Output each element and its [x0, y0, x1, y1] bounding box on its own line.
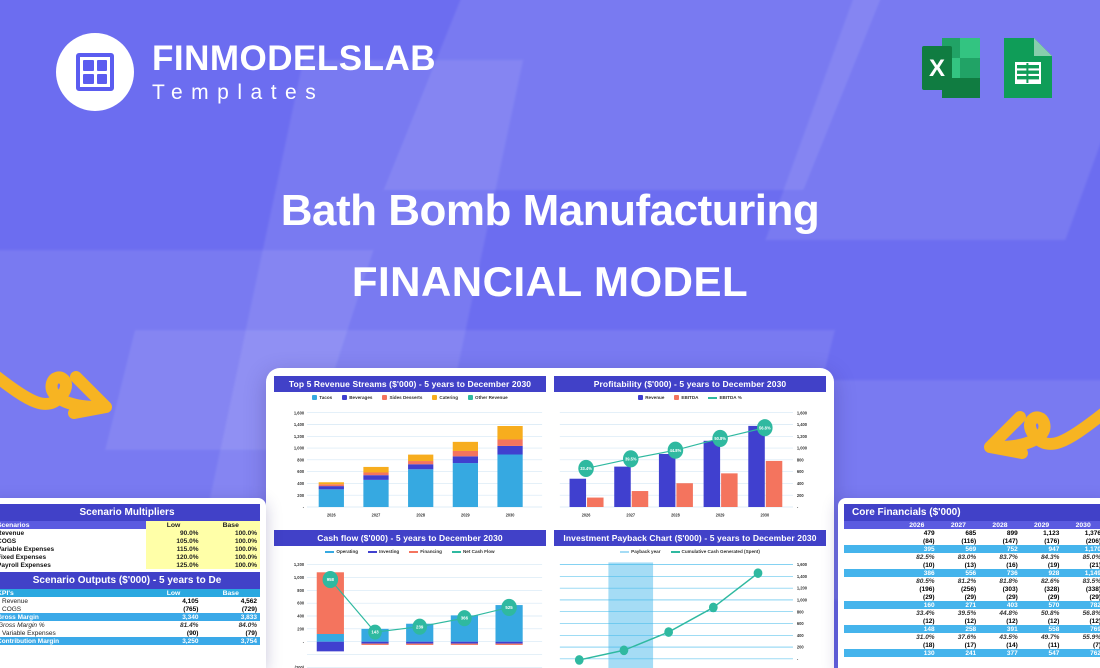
svg-text:1,000: 1,000	[797, 445, 808, 450]
scenario-tables-card[interactable]: Scenario Multipliers Scenarios Low Base …	[0, 498, 266, 668]
svg-text:143: 143	[371, 629, 379, 634]
legend-item-tacos[interactable]: Tacos	[312, 395, 332, 400]
col-kpis: KPI's	[0, 589, 146, 597]
cumulative-cash-markers	[575, 568, 762, 664]
svg-text:2029: 2029	[461, 512, 470, 517]
chart-plot-area: 1,6001,400 1,2001,000 800600 400200 -(20…	[554, 556, 826, 668]
svg-text:366: 366	[461, 616, 469, 621]
svg-text:600: 600	[797, 621, 804, 626]
svg-text:1,000: 1,000	[797, 597, 808, 602]
chart-panel-top-5-revenue-streams[interactable]: Top 5 Revenue Streams ($'000) - 5 years …	[274, 376, 546, 522]
svg-text:1,000: 1,000	[294, 575, 305, 580]
svg-text:1,000: 1,000	[294, 445, 305, 450]
core-financials-card[interactable]: Core Financials ($'000) 2026 2027 2028 2…	[838, 498, 1100, 668]
col-2029: 2029	[1021, 521, 1063, 529]
legend-item-catering[interactable]: Catering	[432, 395, 458, 400]
svg-text:56.8%: 56.8%	[759, 425, 771, 430]
svg-text:200: 200	[797, 493, 804, 498]
col-base: Base	[201, 521, 260, 529]
svg-text:2028: 2028	[671, 512, 680, 517]
legend-item-financing[interactable]: Financing	[409, 549, 442, 554]
cash-flow-svg: 1,2001,000 800600 400200 -(200)	[274, 556, 546, 668]
svg-text:800: 800	[297, 588, 304, 593]
chart-plot-area: 1,6001,400 1,2001,000 800600 400200 -	[274, 402, 546, 522]
svg-text:400: 400	[297, 613, 304, 618]
svg-text:2027: 2027	[626, 512, 635, 517]
chart-title: Cash flow ($'000) - 5 years to December …	[274, 530, 546, 546]
bar-2028	[408, 455, 433, 507]
bars-2029	[704, 441, 738, 507]
header: FINMODELSLAB Templates X	[0, 0, 1100, 150]
svg-text:2026: 2026	[582, 512, 591, 517]
investment-payback-svg: 1,6001,400 1,2001,000 800600 400200 -(20…	[554, 556, 826, 668]
svg-text:1,400: 1,400	[797, 574, 808, 579]
col-low: Low	[146, 589, 202, 597]
table-row: 33.4%39.5%44.8%50.8%56.8%	[844, 609, 1100, 617]
svg-text:1,600: 1,600	[797, 562, 808, 567]
svg-text:800: 800	[797, 457, 804, 462]
table-row: (10)(13)(16)(19)(21)	[844, 561, 1100, 569]
legend-item-net-cash-flow[interactable]: Net Cash Flow	[452, 549, 495, 554]
scenario-outputs-table[interactable]: KPI's Low Base Revenue4,1054,562 COGS(76…	[0, 589, 260, 645]
bar-2027	[363, 467, 388, 507]
chart-legend[interactable]: Revenue EBITDA EBITDA %	[554, 392, 826, 402]
table-row: 3865567369281,149	[844, 569, 1100, 577]
legend-item-other-revenue[interactable]: Other Revenue	[468, 395, 508, 400]
col-2027: 2027	[938, 521, 980, 529]
arrow-pointing-left-icon	[916, 395, 1100, 475]
net-cash-flow-labels: 958143 239366 525	[327, 577, 513, 635]
scenario-multipliers-title: Scenario Multipliers	[0, 504, 260, 521]
svg-text:200: 200	[297, 493, 304, 498]
svg-text:2030: 2030	[760, 512, 769, 517]
grid-icon	[76, 53, 114, 91]
table-row: 31.0%37.6%43.5%49.7%55.9%	[844, 633, 1100, 641]
excel-letter: X	[929, 55, 945, 82]
google-sheets-icon	[998, 34, 1056, 102]
table-row: Gross Margin %81.4%84.0%	[0, 621, 260, 629]
chart-plot-area: 1,2001,000 800600 400200 -(200)	[274, 556, 546, 668]
app-format-icons: X	[920, 34, 1056, 102]
svg-text:400: 400	[797, 481, 804, 486]
core-financials-title: Core Financials ($'000)	[844, 504, 1100, 521]
bar-2029	[453, 442, 478, 507]
chart-panel-profitability[interactable]: Profitability ($'000) - 5 years to Decem…	[554, 376, 826, 522]
profitability-combo-svg: 1,6001,400 1,2001,000 800600 400200 -	[554, 402, 826, 522]
svg-text:1,600: 1,600	[797, 410, 808, 415]
table-header-row: KPI's Low Base	[0, 589, 260, 597]
chart-legend[interactable]: Operating Investing Financing Net Cash F…	[274, 546, 546, 556]
svg-text:525: 525	[505, 605, 513, 610]
svg-text:1,400: 1,400	[294, 422, 305, 427]
table-row: 130241377547762	[844, 649, 1100, 657]
legend-item-ebitda[interactable]: EBITDA	[674, 395, 698, 400]
col-base: Base	[201, 589, 260, 597]
col-2028: 2028	[979, 521, 1021, 529]
svg-text:200: 200	[297, 626, 304, 631]
svg-text:1,200: 1,200	[797, 586, 808, 591]
table-row: 160271403570782	[844, 601, 1100, 609]
page-title: Bath Bomb Manufacturing FINANCIAL MODEL	[0, 186, 1100, 306]
table-row: Revenue90.0%100.0%	[0, 529, 260, 537]
bar-2030	[497, 426, 522, 507]
brand-logo[interactable]: FINMODELSLAB Templates	[56, 33, 436, 111]
svg-text:600: 600	[297, 601, 304, 606]
svg-text:50.8%: 50.8%	[714, 436, 726, 441]
table-row: COGS105.0%100.0%	[0, 537, 260, 545]
brand-tagline: Templates	[152, 82, 436, 103]
legend-item-operating[interactable]: Operating	[325, 549, 358, 554]
legend-item-ebitda-pct[interactable]: EBITDA %	[708, 395, 741, 400]
scenario-multipliers-table[interactable]: Scenarios Low Base Revenue90.0%100.0% CO…	[0, 521, 260, 569]
legend-item-cumulative-cash[interactable]: Cumulative Cash Generated (Spent)	[671, 549, 760, 554]
table-header-row: Scenarios Low Base	[0, 521, 260, 529]
col-2026: 2026	[896, 521, 938, 529]
col-scenarios: Scenarios	[0, 521, 146, 529]
legend-item-investing[interactable]: Investing	[368, 549, 399, 554]
table-header-row: 2026 2027 2028 2029 2030	[844, 521, 1100, 529]
svg-text:400: 400	[797, 633, 804, 638]
svg-text:39.5%: 39.5%	[625, 456, 637, 461]
svg-text:1,200: 1,200	[294, 434, 305, 439]
chart-title: Investment Payback Chart ($'000) - 5 yea…	[554, 530, 826, 546]
brand-text: FINMODELSLAB Templates	[152, 41, 436, 103]
svg-text:-: -	[797, 656, 799, 661]
svg-text:600: 600	[797, 469, 804, 474]
bars-2026	[570, 479, 604, 507]
logo-circle	[56, 33, 134, 111]
bars-2027	[614, 467, 648, 507]
table-row: (196)(256)(303)(328)(338)	[844, 585, 1100, 593]
svg-text:2030: 2030	[506, 512, 515, 517]
table-row: 148258391558769	[844, 625, 1100, 633]
svg-text:200: 200	[797, 644, 804, 649]
chart-panel-cash-flow[interactable]: Cash flow ($'000) - 5 years to December …	[274, 530, 546, 668]
svg-text:-: -	[797, 504, 799, 509]
title-line-1: Bath Bomb Manufacturing	[0, 186, 1100, 236]
dashboard-card[interactable]: Top 5 Revenue Streams ($'000) - 5 years …	[266, 368, 834, 668]
arrow-pointing-right-icon	[0, 355, 180, 435]
svg-text:400: 400	[297, 481, 304, 486]
svg-text:1,200: 1,200	[797, 434, 808, 439]
core-financials-table[interactable]: 2026 2027 2028 2029 2030 4796858991,1231…	[844, 521, 1100, 657]
table-row: (84)(116)(147)(176)(206)	[844, 537, 1100, 545]
svg-text:-: -	[303, 504, 305, 509]
chart-title: Top 5 Revenue Streams ($'000) - 5 years …	[274, 376, 546, 392]
svg-text:600: 600	[297, 469, 304, 474]
table-row: (18)(17)(14)(11)(7)	[844, 641, 1100, 649]
col-low: Low	[146, 521, 202, 529]
title-line-2: FINANCIAL MODEL	[0, 258, 1100, 306]
svg-text:2027: 2027	[372, 512, 381, 517]
table-row: (29)(29)(29)(29)(29)	[844, 593, 1100, 601]
svg-text:800: 800	[797, 609, 804, 614]
svg-text:1,400: 1,400	[797, 422, 808, 427]
svg-text:2026: 2026	[327, 512, 336, 517]
microsoft-excel-icon: X	[920, 34, 982, 102]
bar-2026	[319, 482, 344, 507]
table-row: Payroll Expenses125.0%100.0%	[0, 561, 260, 569]
table-row: Variable Expenses(90)(79)	[0, 629, 260, 637]
col-2030: 2030	[1062, 521, 1100, 529]
svg-text:33.4%: 33.4%	[580, 466, 592, 471]
legend-item-sides-desserts[interactable]: Sides Desserts	[382, 395, 422, 400]
svg-text:800: 800	[297, 457, 304, 462]
table-row: 3955697529471,170	[844, 545, 1100, 553]
scenario-outputs-title: Scenario Outputs ($'000) - 5 years to De	[0, 572, 260, 589]
table-row: Gross Margin3,3403,833	[0, 613, 260, 621]
svg-text:-: -	[303, 639, 305, 644]
chart-plot-area: 1,6001,400 1,2001,000 800600 400200 -	[554, 402, 826, 522]
x-axis-tick-labels: 20262027 20282029 2030	[582, 512, 770, 517]
svg-text:958: 958	[327, 577, 335, 582]
chart-panel-investment-payback[interactable]: Investment Payback Chart ($'000) - 5 yea…	[554, 530, 826, 668]
table-row: (12)(12)(12)(12)(12)	[844, 617, 1100, 625]
table-row: Revenue4,1054,562	[0, 597, 260, 605]
table-row: Contribution Margin3,2503,754	[0, 637, 260, 645]
x-axis-tick-labels: 20262027 20282029 2030	[327, 512, 515, 517]
brand-name: FINMODELSLAB	[152, 41, 436, 76]
chart-legend[interactable]: Tacos Beverages Sides Desserts Catering …	[274, 392, 546, 402]
chart-legend[interactable]: Payback year Cumulative Cash Generated (…	[554, 546, 826, 556]
svg-text:44.8%: 44.8%	[670, 448, 682, 453]
revenue-stacked-bar-svg: 1,6001,400 1,2001,000 800600 400200 -	[274, 402, 546, 522]
bars-2028	[659, 454, 693, 507]
svg-text:2029: 2029	[716, 512, 725, 517]
table-row: Fixed Expenses120.0%100.0%	[0, 553, 260, 561]
table-row: 4796858991,1231,376	[844, 529, 1100, 537]
svg-text:1,600: 1,600	[294, 410, 305, 415]
svg-text:239: 239	[416, 624, 424, 629]
legend-item-revenue[interactable]: Revenue	[638, 395, 664, 400]
svg-text:1,200: 1,200	[294, 562, 305, 567]
table-row: Variable Expenses115.0%100.0%	[0, 545, 260, 553]
bars-2030	[748, 426, 782, 507]
chart-title: Profitability ($'000) - 5 years to Decem…	[554, 376, 826, 392]
legend-item-payback-year[interactable]: Payback year	[620, 549, 660, 554]
legend-item-beverages[interactable]: Beverages	[342, 395, 372, 400]
table-row: 80.5%81.2%81.8%82.6%83.5%	[844, 577, 1100, 585]
table-row: 82.5%83.0%83.7%84.3%85.0%	[844, 553, 1100, 561]
svg-text:2028: 2028	[416, 512, 425, 517]
table-row: COGS(765)(729)	[0, 605, 260, 613]
